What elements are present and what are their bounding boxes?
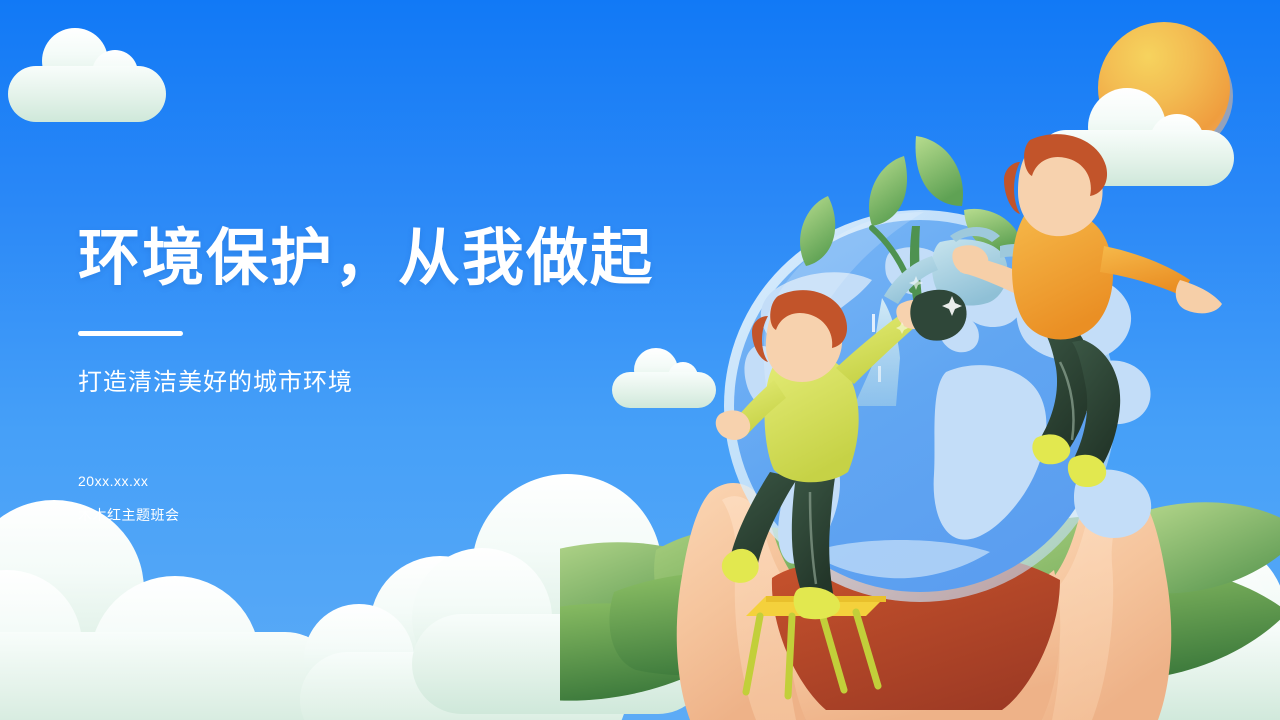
- page-subtitle: 打造清洁美好的城市环境: [78, 362, 778, 397]
- presentation-slide: 环境保护，从我做起 打造清洁美好的城市环境 20xx.xx.xx 木木红主题班会: [0, 0, 1280, 720]
- cloud-icon-top-left: [8, 28, 173, 124]
- title-block: 环境保护，从我做起 打造清洁美好的城市环境: [78, 224, 778, 397]
- slide-meta: 20xx.xx.xx 木木红主题班会: [78, 474, 180, 522]
- cloud-icon-bottom-left: [0, 500, 350, 720]
- title-divider: [78, 331, 183, 336]
- page-title: 环境保护，从我做起: [78, 224, 778, 293]
- slide-date: 20xx.xx.xx: [78, 474, 180, 488]
- slide-author: 木木红主题班会: [78, 508, 180, 522]
- hero-illustration: [560, 100, 1280, 720]
